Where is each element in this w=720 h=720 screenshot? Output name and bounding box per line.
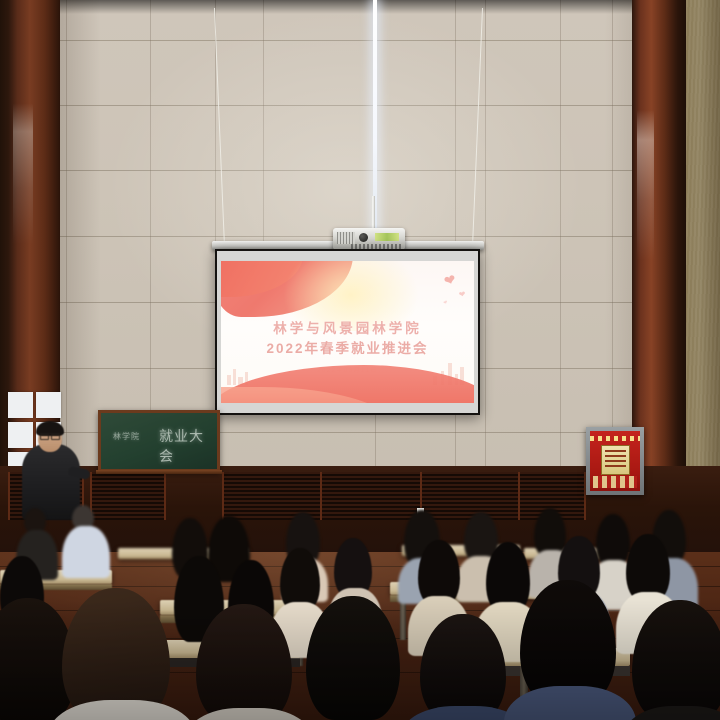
ceiling-mount-pole (371, 196, 375, 232)
presentation-slide: ❤ ❤ ❤ 林学与风景园林学院 2022年春季就业推进会 2022年03月11日 (221, 261, 474, 403)
poster-footer-icon (593, 476, 637, 488)
chalkboard-tray (96, 470, 222, 474)
chalkboard: 林学院 就业大会 (98, 410, 220, 472)
wall-notice-poster (586, 427, 644, 495)
chalkboard-text-left: 林学院 (113, 431, 140, 442)
slide-title-line2: 2022年春季就业推进会 (221, 337, 474, 357)
dove-icon-large: ❤ (442, 272, 457, 289)
screen-suspension-cables (0, 0, 720, 250)
projector (333, 228, 405, 250)
projector-lens-icon (359, 233, 368, 242)
poster-header-icon (590, 436, 640, 441)
presenter-glasses-icon (40, 433, 60, 438)
projector-vent-icon (337, 232, 355, 244)
projection-screen: ❤ ❤ ❤ 林学与风景园林学院 2022年春季就业推进会 2022年03月11日 (215, 249, 480, 415)
projector-indicator-icon (375, 233, 399, 241)
lecture-hall-photo: ❤ ❤ ❤ 林学与风景园林学院 2022年春季就业推进会 2022年03月11日 (0, 0, 720, 720)
poster-content (590, 431, 640, 491)
dove-icon-small: ❤ (443, 300, 449, 306)
slide-title-line1: 林学与风景园林学院 (221, 317, 474, 337)
chalkboard-text-right: 就业大会 (159, 426, 217, 466)
poster-card (601, 445, 630, 475)
dove-icon-medium: ❤ (459, 290, 467, 299)
